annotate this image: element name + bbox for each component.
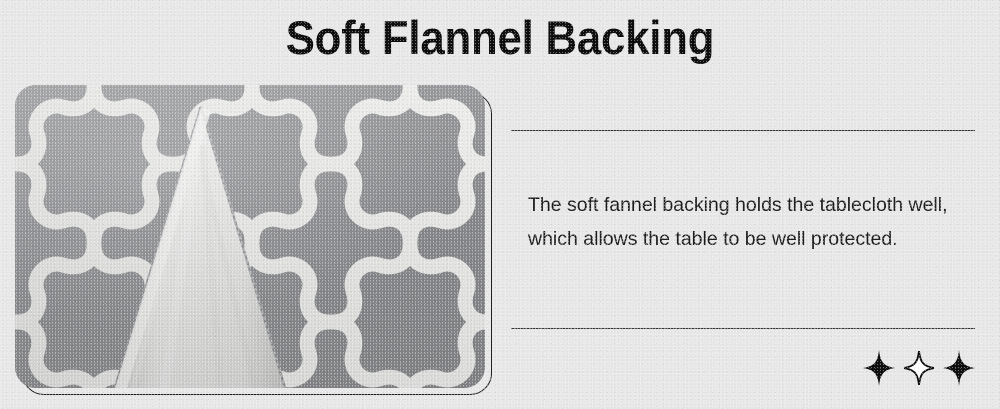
description-column: The soft fannel backing holds the tablec…	[511, 0, 976, 409]
folded-corner-backing	[15, 85, 485, 388]
sparkle-decoration-group	[863, 348, 975, 388]
sparkle-left-icon	[863, 350, 895, 386]
sparkle-right-icon	[943, 350, 975, 386]
divider-top	[511, 130, 975, 131]
feature-banner: Soft Flannel Backing	[0, 0, 1000, 409]
sparkle-center-icon	[904, 351, 934, 385]
description-paragraph: The soft fannel backing holds the tablec…	[528, 188, 973, 256]
product-photo	[15, 85, 485, 388]
divider-bottom	[511, 328, 975, 329]
